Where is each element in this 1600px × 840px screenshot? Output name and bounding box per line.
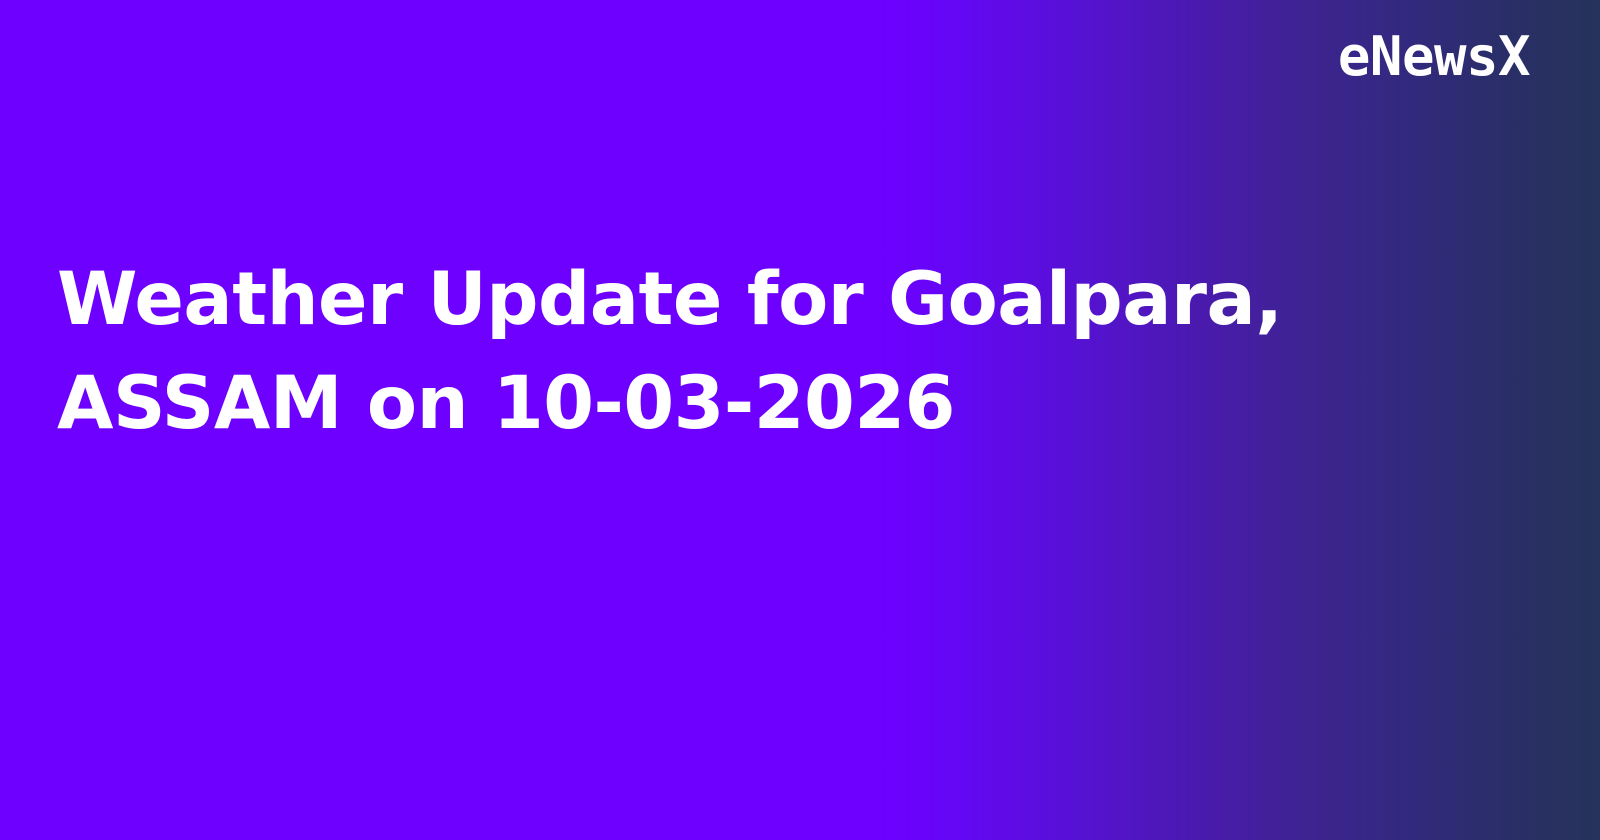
page-title: Weather Update for Goalpara, ASSAM on 10… — [57, 248, 1507, 456]
news-banner: eNewsX Weather Update for Goalpara, ASSA… — [0, 0, 1600, 840]
brand-logo[interactable]: eNewsX — [1338, 28, 1530, 86]
headline-block: Weather Update for Goalpara, ASSAM on 10… — [57, 248, 1507, 456]
